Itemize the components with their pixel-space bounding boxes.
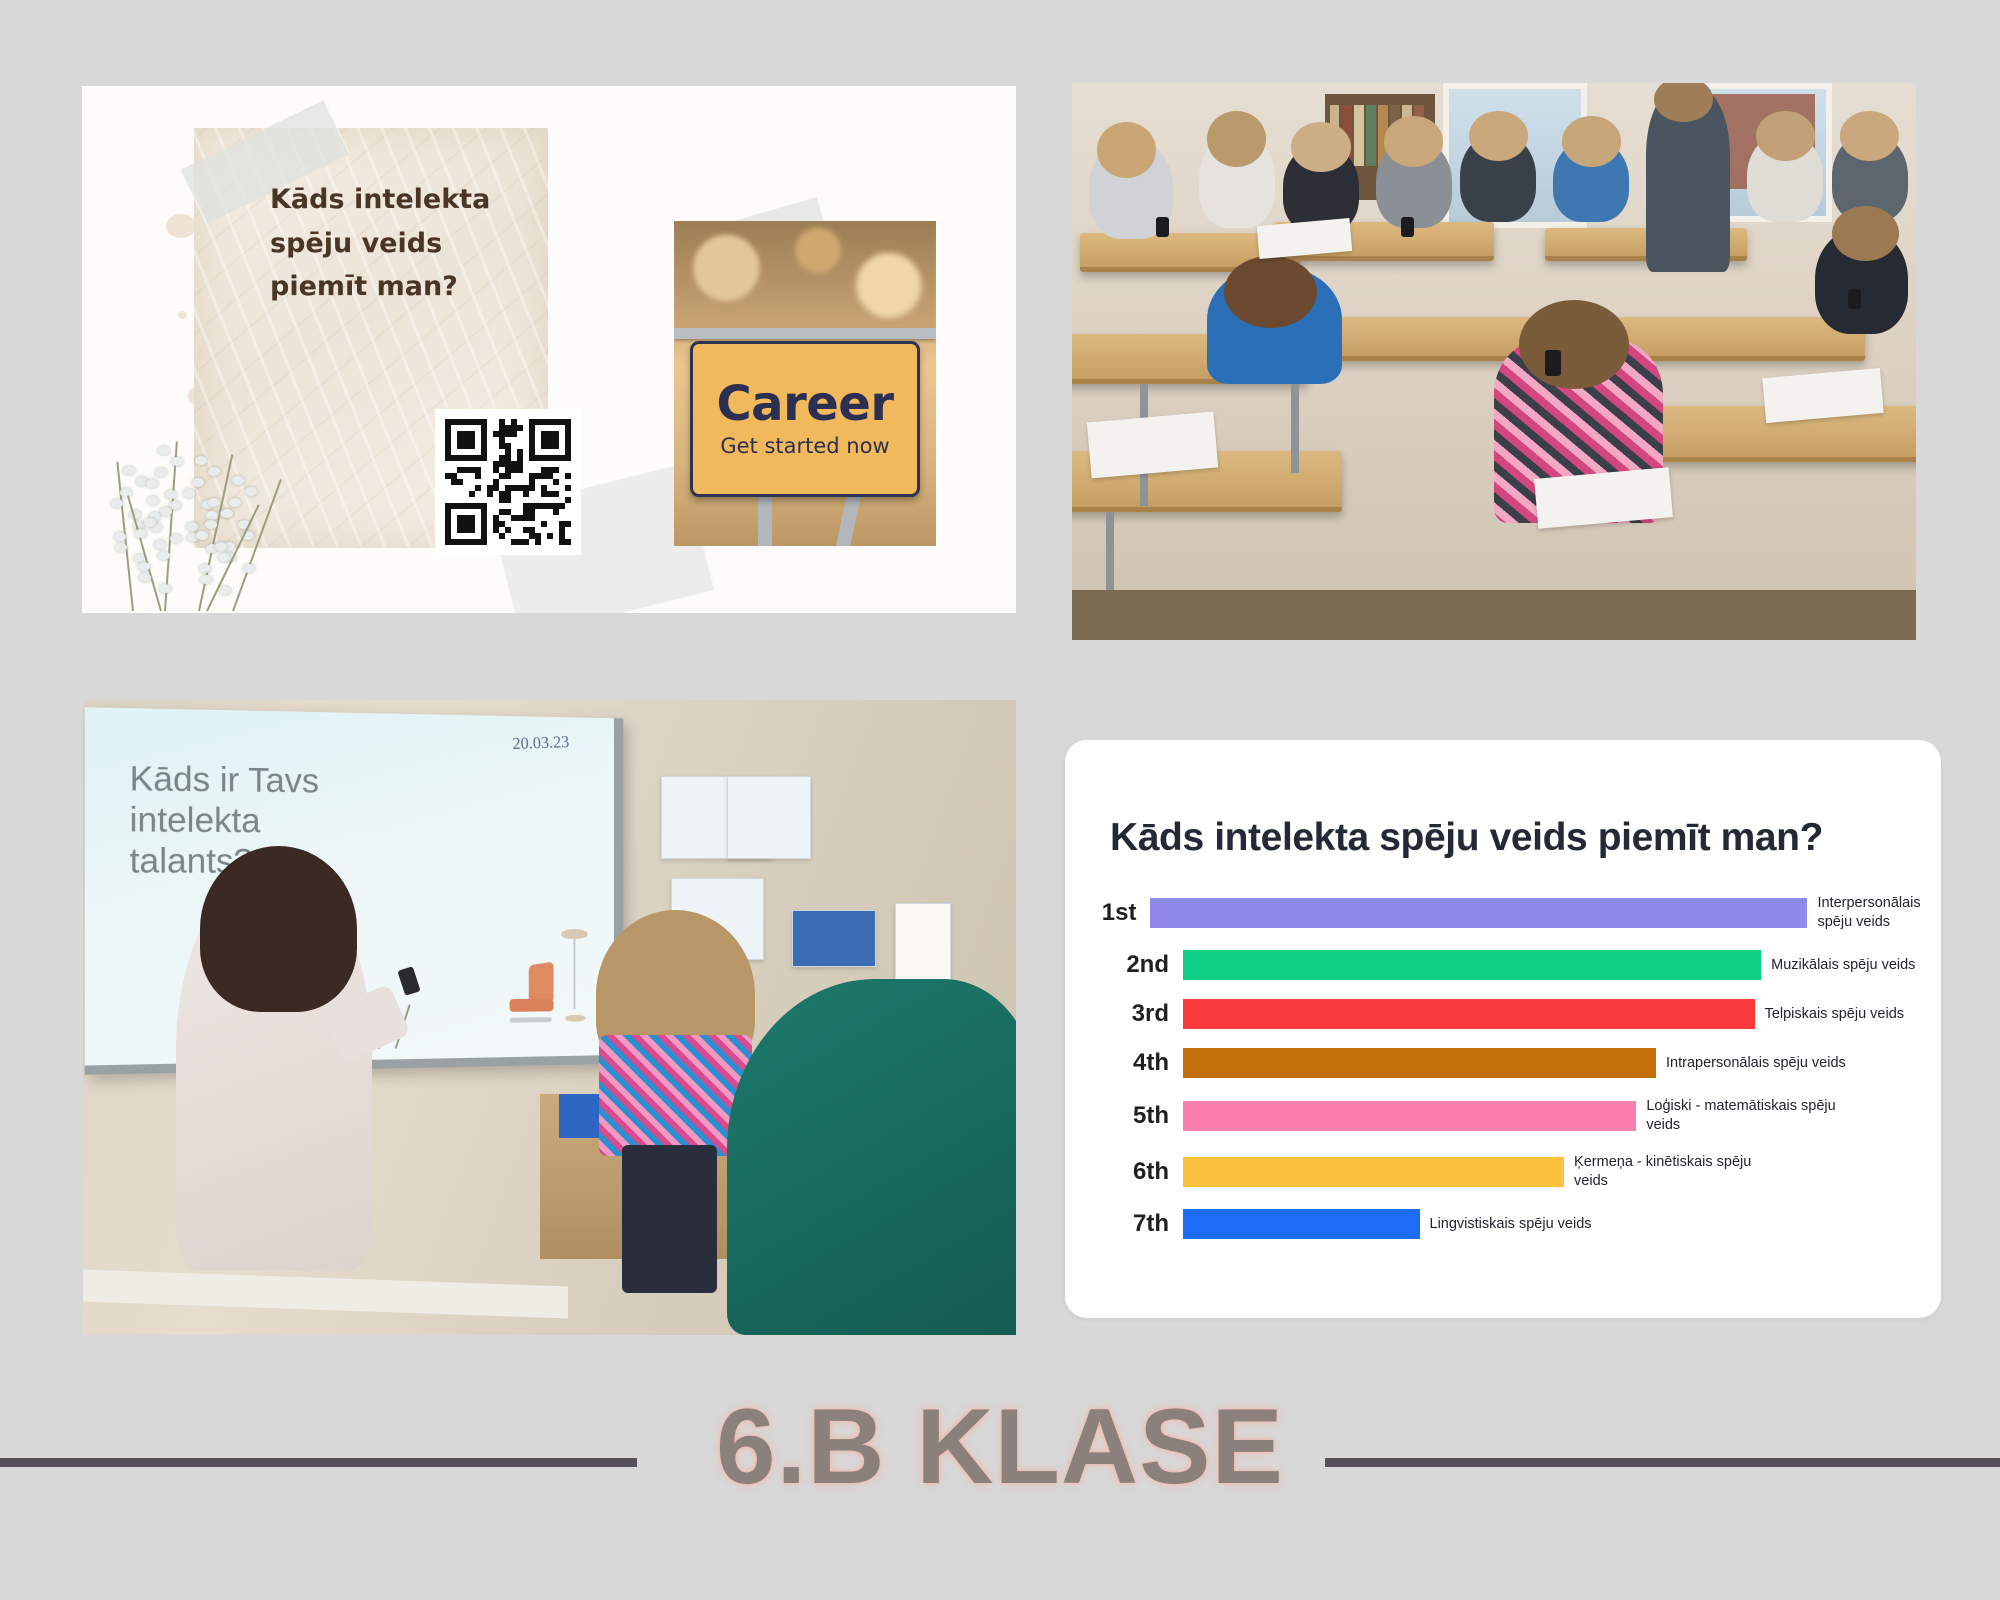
student-head	[1207, 111, 1266, 167]
slide-date: 20.03.23	[512, 732, 570, 754]
poster-title-line-2: spēju veids	[270, 222, 540, 266]
results-chart-card: Kāds intelekta spēju veids piemīt man? 1…	[1065, 740, 1941, 1318]
footer-title: 6.B KLASE	[0, 1384, 2000, 1508]
chart-bar	[1183, 1101, 1636, 1131]
student-head	[1562, 116, 1621, 166]
blurred-foliage	[674, 221, 936, 338]
chart-row: 4thIntrapersonālais spēju veids	[1065, 1048, 1941, 1078]
phone	[1401, 217, 1414, 237]
student-head	[1840, 111, 1899, 161]
chart-rank-label: 2nd	[1065, 951, 1183, 979]
chart-bar	[1183, 950, 1761, 980]
chart-bar	[1183, 1048, 1656, 1078]
chart-rank-label: 3rd	[1065, 1000, 1183, 1028]
chart-bar-label: Muzikālais spēju veids	[1761, 956, 1915, 975]
footer: 6.B KLASE	[0, 1380, 2000, 1560]
chart-bar	[1150, 898, 1807, 928]
chart-row: 5thLoģiski - matemātiskais spēju veids	[1065, 1097, 1941, 1134]
chart-row: 1stInterpersonālais spēju veids	[1065, 894, 1941, 931]
career-sign-subline: Get started now	[720, 434, 889, 458]
qr-code-icon[interactable]	[435, 409, 581, 555]
worksheet-paper	[1087, 412, 1218, 479]
chart-bar-label: Telpiskais spēju veids	[1755, 1005, 1904, 1024]
chart-bar	[1183, 999, 1755, 1029]
decor-blob	[166, 214, 196, 238]
dried-flowers-decor	[102, 416, 302, 611]
wall-poster	[727, 776, 811, 859]
chart-bar-label: Ķermeņa - kinētiskais spēju veids	[1564, 1153, 1764, 1190]
poster-title-line-3: piemīt man?	[270, 265, 540, 309]
bar-chart: 1stInterpersonālais spēju veids2ndMuzikā…	[1065, 894, 1941, 1258]
student-head	[1832, 206, 1900, 262]
chart-row: 2ndMuzikālais spēju veids	[1065, 950, 1941, 980]
chart-bar-label: Intrapersonālais spēju veids	[1656, 1054, 1846, 1073]
chart-rank-label: 4th	[1065, 1049, 1183, 1077]
chart-row: 7thLingvistiskais spēju veids	[1065, 1209, 1941, 1239]
chart-title: Kāds intelekta spēju veids piemīt man?	[1110, 816, 1911, 860]
chart-bar	[1183, 1209, 1420, 1239]
chart-row: 6thĶermeņa - kinētiskais spēju veids	[1065, 1153, 1941, 1190]
chart-bar-label: Loģiski - matemātiskais spēju veids	[1636, 1097, 1836, 1134]
chart-rank-label: 6th	[1065, 1158, 1183, 1186]
chart-bar-label: Lingvistiskais spēju veids	[1420, 1215, 1592, 1234]
phone	[1545, 350, 1561, 376]
career-sign: Career Get started now	[690, 341, 921, 497]
classroom-floor	[1072, 590, 1916, 640]
classroom-photo	[1072, 83, 1916, 640]
footer-rule-right	[1325, 1458, 2000, 1467]
slide-title-line-1: Kāds ir Tavs	[130, 758, 462, 803]
student-head	[1224, 256, 1317, 328]
poster-title: Kāds intelekta spēju veids piemīt man?	[270, 178, 540, 309]
chair-illustration	[505, 963, 555, 1022]
poster-title-line-1: Kāds intelekta	[270, 178, 540, 222]
lamp-illustration	[561, 929, 589, 1022]
poster-image: Kāds intelekta spēju veids piemīt man? C…	[82, 86, 1016, 613]
sign-rail	[674, 328, 936, 339]
phone	[1156, 217, 1169, 237]
student-foreground	[727, 979, 1016, 1335]
student-head	[1291, 122, 1350, 172]
slide-title-line-2: intelekta	[130, 799, 462, 842]
student-head	[1384, 116, 1443, 166]
student-head	[1097, 122, 1156, 178]
career-signpost-photo: Career Get started now	[674, 221, 936, 546]
student-photographing	[176, 878, 372, 1272]
chart-rank-label: 5th	[1065, 1102, 1183, 1130]
chart-rank-label: 1st	[1065, 899, 1150, 927]
wall-poster	[792, 910, 876, 967]
student-head	[1756, 111, 1815, 161]
chart-bar-label: Interpersonālais spēju veids	[1807, 894, 1941, 931]
career-sign-headline: Career	[716, 380, 893, 428]
whiteboard-photo: Kāds ir Tavs intelekta talants? 20.03.23…	[83, 700, 1016, 1335]
chart-rank-label: 7th	[1065, 1210, 1183, 1238]
phone	[1848, 289, 1861, 309]
student-head	[1469, 111, 1528, 161]
decor-blob	[178, 311, 187, 319]
chart-bar	[1183, 1157, 1564, 1187]
chart-row: 3rdTelpiskais spēju veids	[1065, 999, 1941, 1029]
student-head	[1519, 300, 1629, 389]
